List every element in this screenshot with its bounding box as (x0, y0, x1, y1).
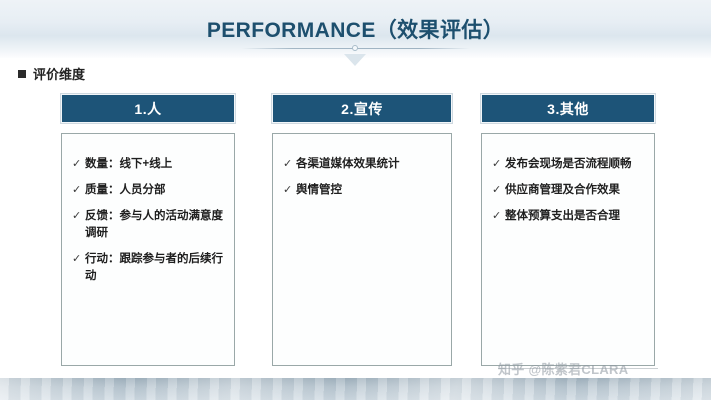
column-promotion: 2.宣传 ✓ 各渠道媒体效果统计 ✓ 舆情管控 (272, 94, 452, 366)
list-item: ✓ 行动：跟踪参与者的后续行动 (72, 251, 224, 285)
list-item: ✓ 反馈：参与人的活动满意度调研 (72, 208, 224, 242)
page-title: PERFORMANCE（效果评估） (0, 14, 711, 44)
square-bullet-icon (18, 70, 26, 78)
list-item-label: 舆情管控 (296, 182, 342, 199)
list-item-label: 各渠道媒体效果统计 (296, 156, 400, 173)
check-icon: ✓ (72, 251, 85, 268)
list-item-label: 供应商管理及合作效果 (505, 182, 620, 199)
section-heading-label: 评价维度 (33, 64, 85, 83)
check-icon: ✓ (72, 208, 85, 225)
column-people: 1.人 ✓ 数量：线下+线上 ✓ 质量：人员分部 ✓ 反馈：参与人的活动满意度调… (61, 94, 235, 366)
list-item-label: 质量：人员分部 (85, 182, 166, 199)
list-item: ✓ 发布会现场是否流程顺畅 (492, 156, 644, 173)
footer-texture-band (0, 378, 711, 400)
list-item-label: 整体预算支出是否合理 (505, 208, 620, 225)
check-icon: ✓ (492, 156, 505, 173)
check-icon: ✓ (283, 182, 296, 199)
list-item-label: 反馈：参与人的活动满意度调研 (85, 208, 224, 242)
list-item-label: 数量：线下+线上 (85, 156, 172, 173)
list-item-label: 行动：跟踪参与者的后续行动 (85, 251, 224, 285)
watermark-strikethrough (498, 368, 658, 369)
check-icon: ✓ (283, 156, 296, 173)
check-icon: ✓ (72, 156, 85, 173)
column-header-label: 1.人 (134, 99, 161, 119)
column-header-label: 3.其他 (547, 99, 589, 119)
column-body-others: ✓ 发布会现场是否流程顺畅 ✓ 供应商管理及合作效果 ✓ 整体预算支出是否合理 (481, 133, 655, 366)
column-header-promotion: 2.宣传 (272, 94, 452, 123)
section-heading: 评价维度 (18, 64, 85, 83)
columns-container: 1.人 ✓ 数量：线下+线上 ✓ 质量：人员分部 ✓ 反馈：参与人的活动满意度调… (0, 94, 711, 374)
list-item: ✓ 质量：人员分部 (72, 182, 224, 199)
column-others: 3.其他 ✓ 发布会现场是否流程顺畅 ✓ 供应商管理及合作效果 ✓ 整体预算支出… (481, 94, 655, 366)
list-item: ✓ 供应商管理及合作效果 (492, 182, 644, 199)
column-body-promotion: ✓ 各渠道媒体效果统计 ✓ 舆情管控 (272, 133, 452, 366)
column-header-label: 2.宣传 (341, 99, 383, 119)
slide-canvas: PERFORMANCE（效果评估） 评价维度 1.人 ✓ 数量：线下+线上 ✓ … (0, 0, 711, 400)
chevron-down-triangle-icon (344, 54, 366, 66)
check-icon: ✓ (492, 182, 505, 199)
column-header-others: 3.其他 (481, 94, 655, 123)
header-banner: PERFORMANCE（效果评估） (0, 0, 711, 58)
list-item: ✓ 各渠道媒体效果统计 (283, 156, 441, 173)
divider-dot-icon (352, 45, 358, 51)
list-item: ✓ 整体预算支出是否合理 (492, 208, 644, 225)
check-icon: ✓ (72, 182, 85, 199)
check-icon: ✓ (492, 208, 505, 225)
column-header-people: 1.人 (61, 94, 235, 123)
list-item: ✓ 舆情管控 (283, 182, 441, 199)
list-item-label: 发布会现场是否流程顺畅 (505, 156, 632, 173)
list-item: ✓ 数量：线下+线上 (72, 156, 224, 173)
column-body-people: ✓ 数量：线下+线上 ✓ 质量：人员分部 ✓ 反馈：参与人的活动满意度调研 ✓ … (61, 133, 235, 366)
